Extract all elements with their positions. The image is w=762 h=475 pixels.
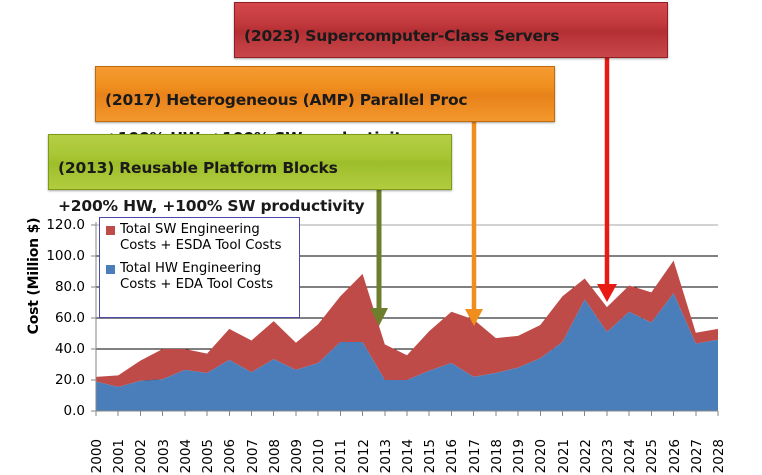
chart-legend: Total SW Engineering Costs + ESDA Tool C… bbox=[99, 217, 300, 318]
legend-swatch-icon bbox=[106, 265, 115, 274]
callout-2023-line1: (2023) Supercomputer-Class Servers bbox=[244, 27, 658, 46]
legend-entry: Total HW Engineering Costs + EDA Tool Co… bbox=[106, 261, 294, 293]
callout-2017[interactable]: (2017) Heterogeneous (AMP) Parallel Proc… bbox=[95, 66, 555, 122]
slide-canvas: Cost (Million $) 0.020.040.060.080.0100.… bbox=[0, 0, 762, 475]
callout-2013-line2: +200% HW, +100% SW productivity bbox=[58, 197, 442, 216]
callout-2023[interactable]: (2023) Supercomputer-Class Servers +100%… bbox=[234, 2, 668, 58]
legend-entry: Total SW Engineering Costs + ESDA Tool C… bbox=[106, 222, 294, 254]
legend-label: Total SW Engineering Costs + ESDA Tool C… bbox=[120, 222, 281, 254]
callout-2017-line1: (2017) Heterogeneous (AMP) Parallel Proc bbox=[105, 91, 545, 110]
callout-2013[interactable]: (2013) Reusable Platform Blocks +200% HW… bbox=[48, 134, 452, 190]
legend-label: Total HW Engineering Costs + EDA Tool Co… bbox=[120, 261, 273, 293]
callout-2013-line1: (2013) Reusable Platform Blocks bbox=[58, 159, 442, 178]
legend-swatch-icon bbox=[106, 226, 115, 235]
